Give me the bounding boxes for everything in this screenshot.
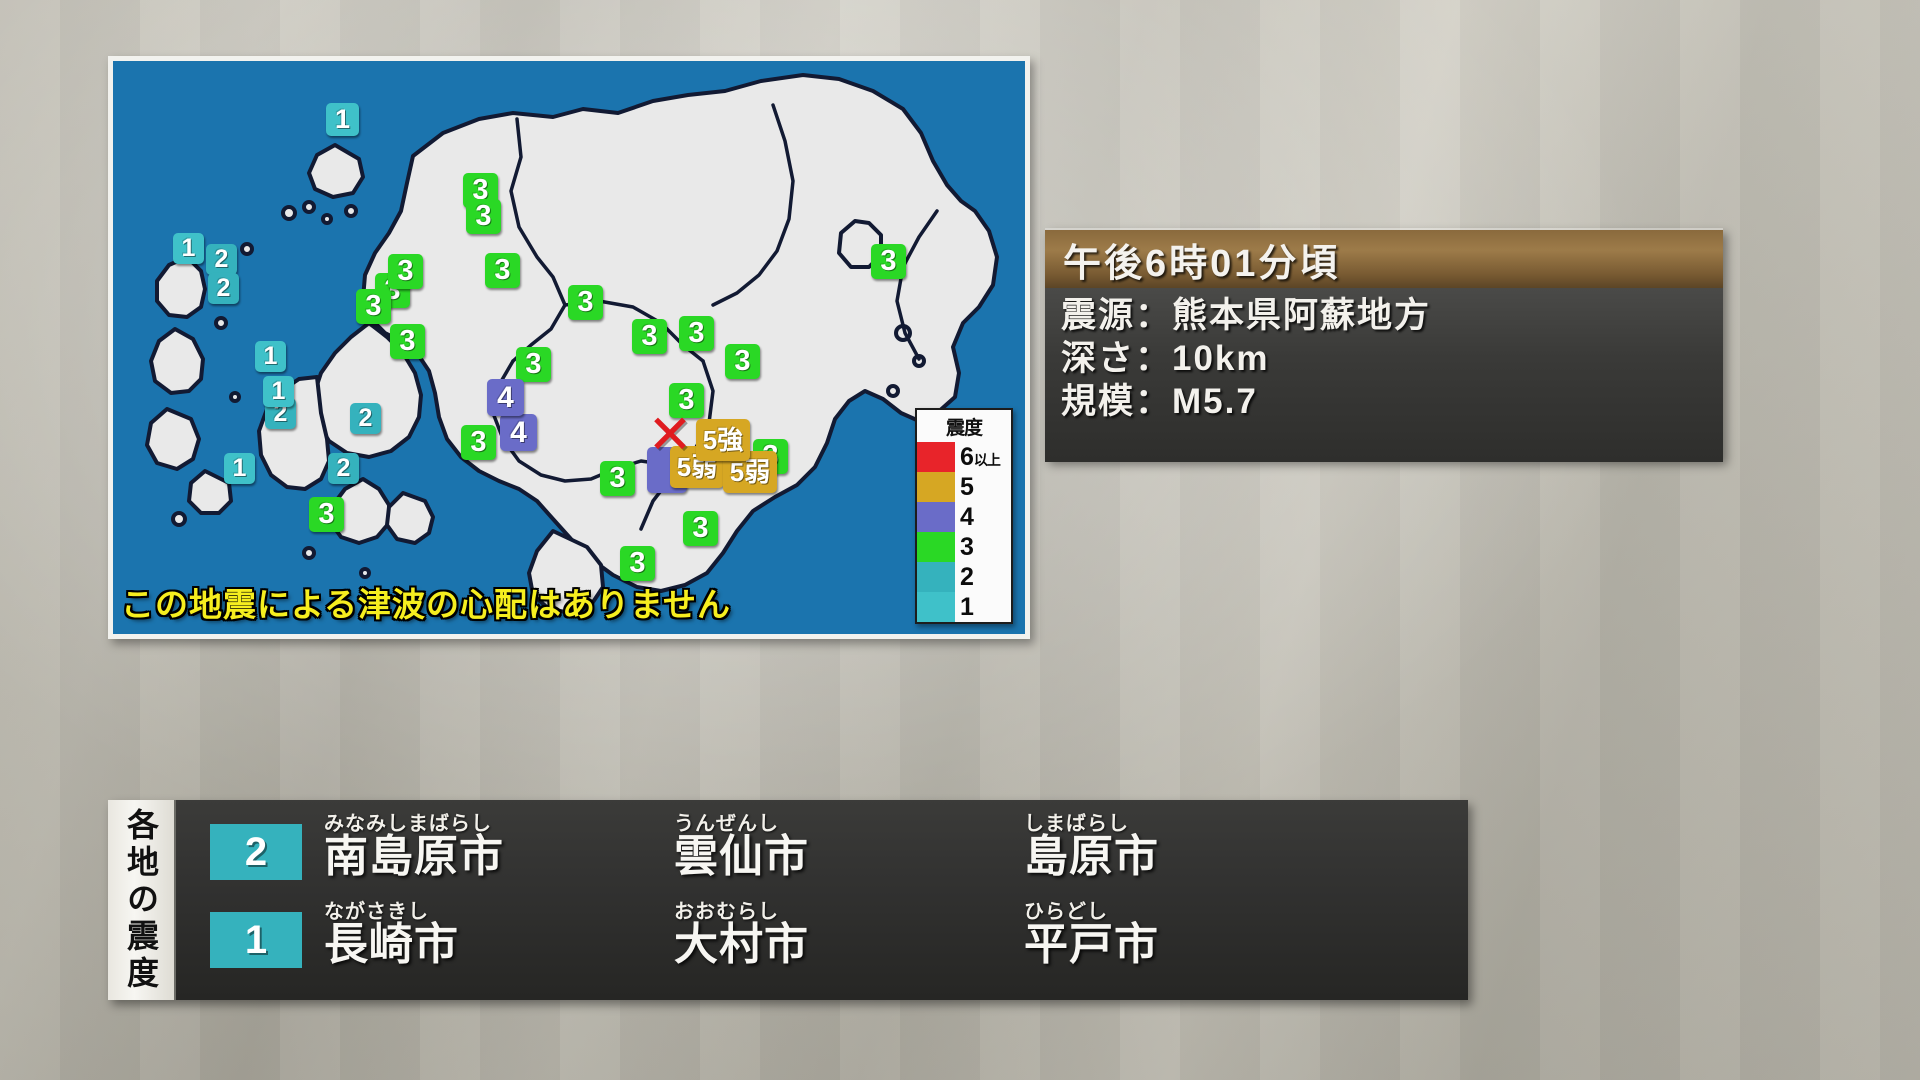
marker-label: 1: [182, 236, 196, 261]
marker-label: 3: [577, 288, 593, 317]
city-furigana: しまばらし: [1024, 814, 1374, 834]
shindo-badge: 1: [210, 912, 302, 968]
marker-label: 3: [609, 464, 625, 493]
regional-intensity-table: 各地の震度 2みなみしまばらし南島原市うんぜんし雲仙市しまばらし島原市1ながさき…: [108, 800, 1468, 1000]
intensity-legend: 震度 6以上54321: [915, 408, 1013, 624]
legend-swatch-6: [917, 442, 955, 472]
marker-label: 1: [233, 456, 247, 481]
city-cell: みなみしまばらし南島原市: [324, 814, 674, 880]
legend-row-1: 1: [917, 592, 1011, 622]
legend-row-3: 3: [917, 532, 1011, 562]
info-magnitude-line: 規模：M5.7: [1057, 380, 1723, 423]
marker-label: 2: [359, 406, 373, 431]
intensity-marker-3: 3: [620, 546, 655, 581]
legend-label-2: 2: [955, 565, 1011, 590]
marker-label: 1: [272, 379, 286, 404]
legend-rows: 6以上54321: [917, 442, 1011, 622]
intensity-marker-3: 3: [600, 461, 635, 496]
intensity-marker-3: 3: [485, 253, 520, 288]
table-side-label-text: 各地の震度: [118, 808, 164, 993]
marker-label: 2: [215, 247, 229, 272]
intensity-marker-3: 3: [466, 199, 501, 234]
city-name: 大村市: [674, 923, 1024, 968]
city-cell: しまばらし島原市: [1024, 814, 1374, 880]
tsunami-notice: この地震による津波の心配はありません: [121, 578, 731, 626]
marker-label: 3: [525, 350, 541, 379]
marker-label: 3: [475, 202, 491, 231]
legend-label-3: 3: [955, 535, 1011, 560]
intensity-marker-2: 2: [206, 244, 237, 275]
marker-label: 3: [365, 292, 381, 321]
legend-row-5: 5: [917, 472, 1011, 502]
legend-value: 5: [960, 475, 974, 500]
legend-swatch-2: [917, 562, 955, 592]
marker-label: 3: [470, 428, 486, 457]
city-name: 長崎市: [324, 923, 674, 968]
city-furigana: ながさきし: [324, 902, 674, 922]
city-furigana: うんぜんし: [674, 814, 1024, 834]
marker-label: 3: [880, 247, 896, 276]
city-cell: ながさきし長崎市: [324, 902, 674, 968]
legend-value: 3: [960, 535, 974, 560]
legend-row-2: 2: [917, 562, 1011, 592]
info-depth-line: 深さ：10km: [1057, 337, 1723, 380]
epicenter-glyph: ✕: [647, 408, 692, 462]
intensity-marker-3: 3: [390, 324, 425, 359]
intensity-marker-3: 3: [679, 316, 714, 351]
legend-swatch-4: [917, 502, 955, 532]
legend-value: 2: [960, 565, 974, 590]
info-details: 震源：熊本県阿蘇地方 深さ：10km 規模：M5.7: [1045, 288, 1723, 462]
marker-label: 3: [494, 256, 510, 285]
city-name: 島原市: [1024, 835, 1374, 880]
intensity-marker-2: 2: [328, 453, 359, 484]
legend-label-4: 4: [955, 505, 1011, 530]
legend-value: 6: [960, 445, 974, 470]
legend-value: 1: [960, 595, 974, 620]
legend-title: 震度: [917, 412, 1011, 442]
marker-label: 3: [692, 514, 708, 543]
legend-label-1: 1: [955, 595, 1011, 620]
earthquake-map: 11223333333311221233443333333333 5強 5弱 5…: [108, 56, 1030, 639]
intensity-marker-3: 3: [309, 497, 344, 532]
intensity-marker-2: 2: [350, 403, 381, 434]
intensity-marker-1: 1: [173, 233, 204, 264]
legend-swatch-1: [917, 592, 955, 622]
marker-label: 3: [734, 347, 750, 376]
city-furigana: ひらどし: [1024, 902, 1374, 922]
legend-row-4: 4: [917, 502, 1011, 532]
map-landmass-svg: [113, 61, 1025, 634]
marker-label: 3: [641, 322, 657, 351]
city-cell: うんぜんし雲仙市: [674, 814, 1024, 880]
table-side-label: 各地の震度: [108, 800, 176, 1000]
marker-label: 3: [688, 319, 704, 348]
intensity-marker-1: 1: [255, 341, 286, 372]
city-name: 雲仙市: [674, 835, 1024, 880]
intensity-marker-3: 3: [632, 319, 667, 354]
marker-label: 5強: [703, 427, 743, 453]
city-cell: おおむらし大村市: [674, 902, 1024, 968]
intensity-marker-4: 4: [487, 379, 524, 416]
marker-label: 2: [337, 456, 351, 481]
info-epicenter-line: 震源：熊本県阿蘇地方: [1057, 294, 1723, 337]
intensity-marker-1: 1: [224, 453, 255, 484]
intensity-marker-3: 3: [871, 244, 906, 279]
city-name: 南島原市: [324, 835, 674, 880]
city-furigana: みなみしまばらし: [324, 814, 674, 834]
marker-label: 4: [497, 383, 514, 413]
table-rows: 2みなみしまばらし南島原市うんぜんし雲仙市しまばらし島原市1ながさきし長崎市おお…: [176, 800, 1468, 1000]
shindo-badge: 2: [210, 824, 302, 880]
marker-label: 4: [510, 418, 527, 448]
legend-swatch-5: [917, 472, 955, 502]
marker-label: 3: [318, 500, 334, 529]
table-row: 2みなみしまばらし南島原市うんぜんし雲仙市しまばらし島原市: [176, 814, 1468, 902]
city-furigana: おおむらし: [674, 902, 1024, 922]
legend-row-6: 6以上: [917, 442, 1011, 472]
legend-suffix: 以上: [974, 453, 1000, 467]
epicenter-x-icon: ✕: [644, 409, 696, 461]
intensity-marker-3: 3: [516, 347, 551, 382]
intensity-marker-3: 3: [725, 344, 760, 379]
intensity-marker-5-upper: 5強: [696, 419, 750, 461]
intensity-marker-1: 1: [326, 103, 359, 136]
marker-label: 3: [397, 257, 413, 286]
marker-label: 5弱: [730, 459, 770, 485]
intensity-marker-3: 3: [461, 425, 496, 460]
legend-value: 4: [960, 505, 974, 530]
marker-label: 1: [264, 344, 278, 369]
marker-label: 1: [335, 106, 350, 133]
table-row: 1ながさきし長崎市おおむらし大村市ひらどし平戸市: [176, 902, 1468, 990]
intensity-marker-3: 3: [356, 289, 391, 324]
marker-label: 2: [217, 276, 231, 301]
intensity-marker-1: 1: [263, 376, 294, 407]
intensity-marker-3: 3: [683, 511, 718, 546]
info-time-header: 午後6時01分頃: [1045, 230, 1723, 288]
legend-label-5: 5: [955, 475, 1011, 500]
intensity-marker-3: 3: [388, 254, 423, 289]
intensity-marker-4: 4: [500, 414, 537, 451]
city-name: 平戸市: [1024, 923, 1374, 968]
earthquake-info-panel: 午後6時01分頃 震源：熊本県阿蘇地方 深さ：10km 規模：M5.7: [1045, 228, 1723, 460]
city-cell: ひらどし平戸市: [1024, 902, 1374, 968]
marker-label: 3: [399, 327, 415, 356]
intensity-marker-2: 2: [208, 273, 239, 304]
intensity-marker-3: 3: [568, 285, 603, 320]
legend-swatch-3: [917, 532, 955, 562]
marker-label: 3: [629, 549, 645, 578]
legend-label-6: 6以上: [955, 445, 1011, 470]
